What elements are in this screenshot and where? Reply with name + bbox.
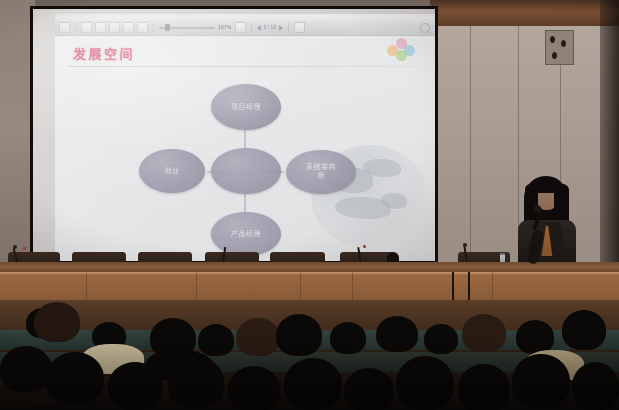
- diagram-node-top-label: 项目经理: [229, 103, 263, 112]
- audience-head: [562, 310, 606, 350]
- audience-head: [458, 364, 510, 410]
- slide-title: 发展空间: [73, 44, 135, 63]
- connector-top: [244, 128, 246, 150]
- diagram-node-right-label: 系统架构师: [304, 163, 338, 181]
- previous-page-icon[interactable]: [257, 25, 261, 31]
- zoom-level-label: 107%: [218, 25, 232, 31]
- title-underline: [69, 66, 421, 67]
- sidebar-toggle-icon[interactable]: [59, 22, 70, 33]
- audience-head: [516, 320, 554, 354]
- connector-bottom: [244, 193, 246, 213]
- audience-head: [228, 366, 280, 410]
- audience-head: [236, 318, 280, 356]
- wall-shadow-right: [600, 0, 619, 300]
- screenshot-root: 107% 5 / 18: [0, 0, 619, 410]
- audience-head: [572, 362, 619, 410]
- audience-head: [34, 302, 80, 342]
- microphone-indicator: [363, 245, 366, 248]
- thumbnail-icon[interactable]: [81, 22, 92, 33]
- diagram-node-bottom[interactable]: 产品经理: [211, 212, 281, 256]
- page-indicator-label: 5 / 18: [264, 25, 277, 31]
- microphone-indicator: [23, 247, 26, 250]
- wall-mount-plate: [545, 30, 574, 65]
- audience-head: [46, 352, 104, 404]
- handheld-microphone-head: [534, 205, 541, 212]
- audience-head: [396, 356, 454, 410]
- next-page-icon[interactable]: [279, 25, 283, 31]
- podium-top-surface: [0, 262, 619, 272]
- podium-highlight-edge: [0, 272, 619, 275]
- diagram-node-left-label: 创业: [155, 167, 189, 176]
- audience-head: [376, 316, 418, 352]
- diagram-node-bottom-label: 产品经理: [229, 230, 263, 239]
- audience-head: [276, 314, 322, 356]
- rotate-icon[interactable]: [294, 22, 305, 33]
- audience-head: [168, 356, 224, 408]
- audience-head: [0, 346, 52, 392]
- toolbar-divider: [288, 23, 289, 32]
- select-tool-icon[interactable]: [109, 22, 120, 33]
- toolbar-divider: [251, 23, 252, 32]
- audience-head: [108, 362, 162, 410]
- diagram-node-top[interactable]: 项目经理: [211, 84, 281, 130]
- microphone-head: [13, 245, 17, 249]
- slide-canvas: 发展空间 项目经理 创业 系统架构师: [55, 36, 435, 261]
- audience-head: [512, 354, 570, 408]
- zoom-in-icon[interactable]: [137, 22, 148, 33]
- presenter: [512, 176, 584, 268]
- zoom-out-icon[interactable]: [123, 22, 134, 33]
- audience-head: [330, 322, 366, 354]
- hand-tool-icon[interactable]: [95, 22, 106, 33]
- diagram-node-right[interactable]: 系统架构师: [286, 150, 356, 194]
- diagram-node-center[interactable]: [211, 148, 281, 194]
- projection-screen: 107% 5 / 18: [33, 9, 435, 261]
- audience-area: [0, 300, 619, 410]
- audience-head: [344, 368, 394, 410]
- audience-head: [198, 324, 234, 356]
- audience-head: [284, 358, 342, 410]
- microphone-head: [463, 243, 467, 247]
- four-petal-logo: [387, 38, 417, 60]
- diagram-node-left[interactable]: 创业: [139, 149, 205, 193]
- toolbar-divider: [75, 23, 76, 32]
- toolbar-divider: [153, 23, 154, 32]
- projected-application-window: 107% 5 / 18: [55, 14, 435, 261]
- document-viewer-toolbar[interactable]: 107% 5 / 18: [55, 20, 435, 36]
- zoom-slider[interactable]: [159, 23, 215, 32]
- fit-page-icon[interactable]: [235, 22, 246, 33]
- audience-head: [462, 314, 506, 352]
- ceiling-beam: [430, 0, 619, 26]
- search-icon[interactable]: [420, 23, 430, 33]
- audience-head: [424, 324, 458, 354]
